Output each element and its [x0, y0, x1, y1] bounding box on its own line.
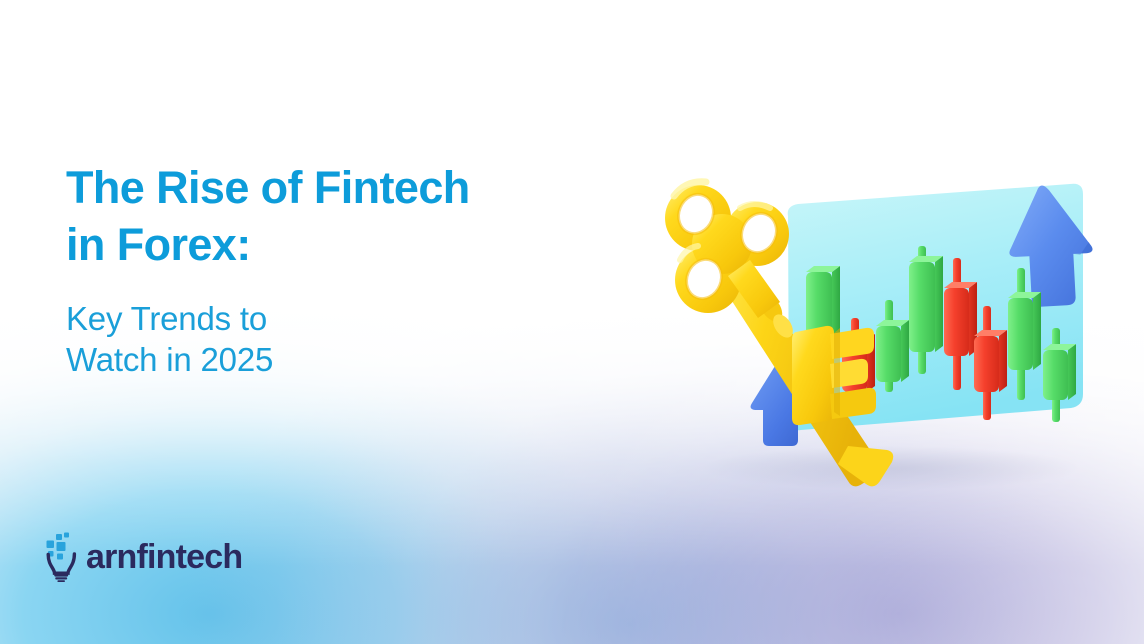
forex-key-candlestick-illustration: [640, 150, 1110, 490]
brand-wordmark: arnfintech: [86, 540, 242, 574]
brand-logo[interactable]: arnfintech: [44, 532, 246, 582]
headline-block: The Rise of Fintech in Forex: Key Trends…: [66, 160, 586, 381]
banner-canvas: The Rise of Fintech in Forex: Key Trends…: [0, 0, 1144, 644]
page-title: The Rise of Fintech in Forex:: [66, 160, 586, 273]
lightbulb-pixel-icon: [44, 532, 86, 582]
key-teeth: [792, 326, 876, 425]
key-bow: [665, 182, 789, 318]
page-subtitle: Key Trends to Watch in 2025: [66, 299, 586, 381]
